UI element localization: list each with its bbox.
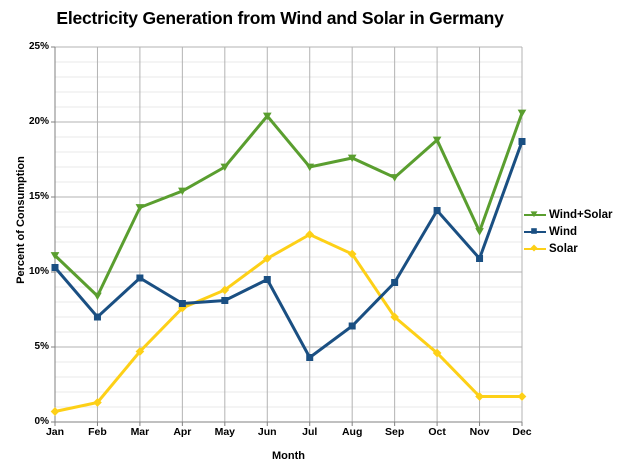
y-tick-label: 25% (5, 41, 49, 52)
legend-label: Wind+Solar (549, 209, 612, 221)
legend-label: Solar (549, 243, 578, 255)
x-tick-label-dec: Dec (498, 426, 546, 438)
x-tick-label-nov: Nov (456, 426, 504, 438)
legend-label: Wind (549, 226, 577, 238)
x-tick-label-feb: Feb (73, 426, 121, 438)
y-tick-label: 5% (5, 341, 49, 352)
x-tick-label-jan: Jan (31, 426, 79, 438)
legend-item-wind-plus-solar[interactable]: Wind+Solar (524, 206, 612, 223)
y-tick-label: 10% (5, 266, 49, 277)
legend-swatch-icon (524, 242, 546, 256)
x-tick-label-oct: Oct (413, 426, 461, 438)
x-tick-label-apr: Apr (158, 426, 206, 438)
legend-item-solar[interactable]: Solar (524, 240, 612, 257)
x-tick-label-mar: Mar (116, 426, 164, 438)
x-tick-label-jun: Jun (243, 426, 291, 438)
x-tick-label-jul: Jul (286, 426, 334, 438)
legend-item-wind[interactable]: Wind (524, 223, 612, 240)
x-tick-label-may: May (201, 426, 249, 438)
chart-container: Electricity Generation from Wind and Sol… (0, 0, 623, 467)
legend-swatch-icon (524, 208, 546, 222)
y-tick-label: 20% (5, 116, 49, 127)
chart-legend: Wind+SolarWindSolar (524, 206, 612, 257)
x-tick-label-sep: Sep (371, 426, 419, 438)
x-tick-label-aug: Aug (328, 426, 376, 438)
y-tick-label: 15% (5, 191, 49, 202)
legend-swatch-icon (524, 225, 546, 239)
